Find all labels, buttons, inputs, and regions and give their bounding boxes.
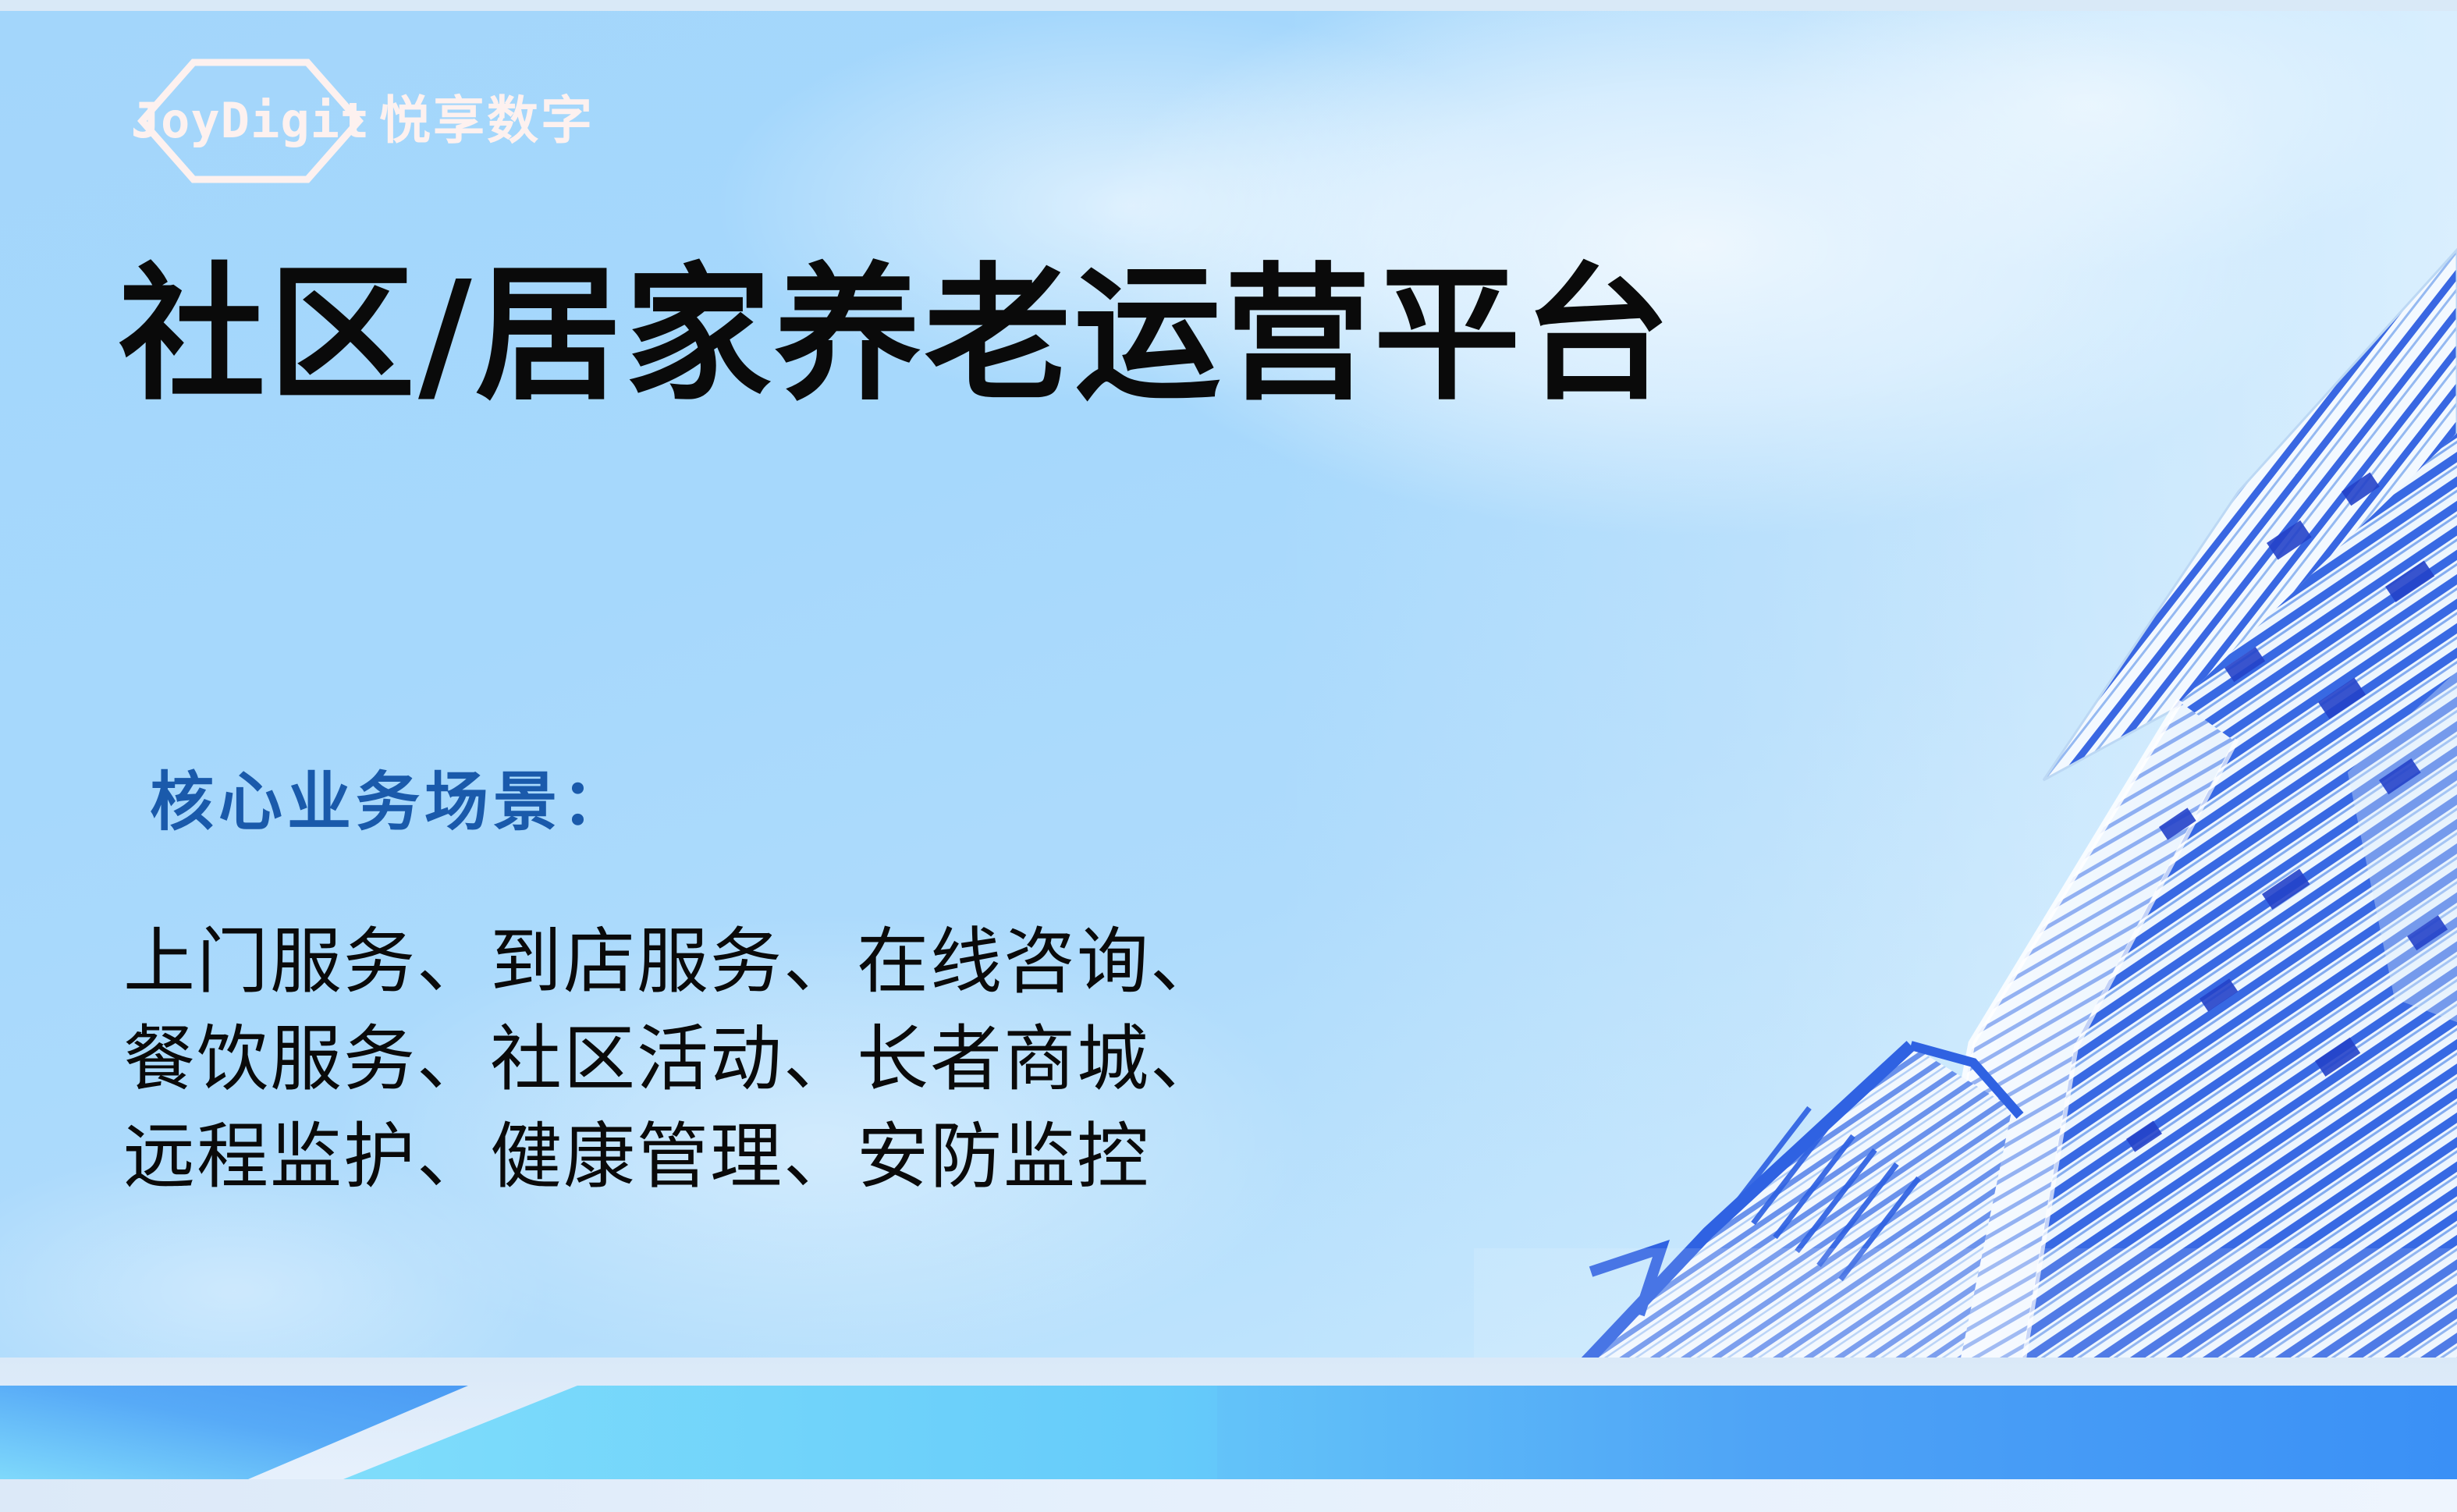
logo-chinese-text: 悦享数字	[379, 95, 595, 147]
scenario-line: 远程监护、健康管理、安防监控	[123, 1108, 1223, 1205]
bottom-decorative-band	[0, 1358, 2457, 1512]
logo-latin-text: JoyDigit	[131, 97, 371, 145]
top-edge-strip	[0, 0, 2457, 11]
band-shape-strip	[1217, 1386, 2457, 1479]
scenario-list: 上门服务、到店服务、在线咨询、 餐饮服务、社区活动、长者商城、 远程监护、健康管…	[123, 913, 1223, 1205]
section-label: 核心业务场景：	[150, 771, 630, 835]
logo-mark: JoyDigit	[137, 75, 364, 167]
scenario-line: 上门服务、到店服务、在线咨询、	[123, 913, 1223, 1010]
slide-root: JoyDigit 悦享数字 社区/居家养老运营平台 核心业务场景： 上门服务、到…	[0, 0, 2457, 1512]
scenario-line: 餐饮服务、社区活动、长者商城、	[123, 1010, 1223, 1108]
brand-logo: JoyDigit 悦享数字	[137, 75, 595, 167]
band-footer-strip	[0, 1479, 2457, 1512]
page-title: 社区/居家养老运营平台	[119, 256, 1674, 414]
